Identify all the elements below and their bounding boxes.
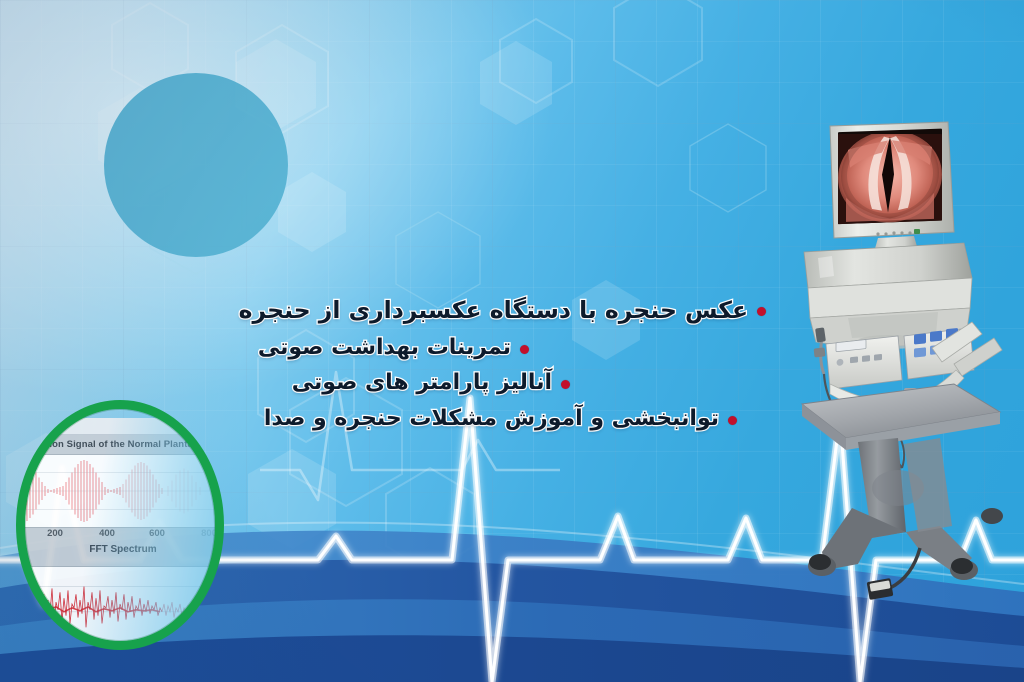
banner-root: عکس حنجره با دستگاه عکسبرداری از حنجره ت…: [0, 0, 1024, 682]
fft-trace: [20, 567, 220, 641]
chart-axis-top: 0 200 400 600 800 FFT Spectrum: [20, 528, 220, 566]
bullet-dot-icon: [520, 345, 529, 354]
chart-axis-bottom: 200 400 600 800: [20, 642, 220, 646]
feature-item-4-label: توانبخشی و آموزش مشکلات حنجره و صدا: [264, 406, 719, 433]
laryngeal-stroboscopy-tower: [786, 112, 1024, 612]
feature-item-2[interactable]: تمرینات بهداشت صوتی: [236, 335, 529, 362]
xtick-600: 600: [149, 528, 165, 539]
feature-item-4[interactable]: توانبخشی و آموزش مشکلات حنجره و صدا: [236, 406, 737, 433]
bullet-dot-icon: [757, 307, 766, 316]
feature-item-3[interactable]: آنالیز پارامتر های صوتی: [236, 370, 570, 397]
foot-pedal: [867, 548, 920, 600]
light-source-panel: [826, 336, 902, 389]
chart-panel-fft: [20, 566, 220, 642]
signal-analysis-magnifier: ion Signal of the Normal Plantar: [16, 400, 230, 662]
chart-panel-vibration: [20, 454, 220, 528]
chart-toolbar[interactable]: [20, 418, 220, 435]
xtick2-800: 800: [201, 642, 217, 646]
xtick-400: 400: [99, 528, 115, 539]
chart-window: ion Signal of the Normal Plantar: [20, 418, 220, 646]
bullet-dot-icon: [561, 380, 570, 389]
xtick2-600: 600: [149, 642, 165, 646]
chart-clip: ion Signal of the Normal Plantar: [20, 404, 220, 646]
toolbar-record-icon[interactable]: [205, 422, 213, 430]
xtick2-400: 400: [99, 642, 115, 646]
feature-item-3-label: آنالیز پارامتر های صوتی: [292, 370, 552, 397]
toolbar-zoom-icon[interactable]: [218, 422, 220, 430]
feature-item-1[interactable]: عکس حنجره با دستگاه عکسبرداری از حنجره: [236, 296, 766, 325]
chart-xticks-bottom: 200 400 600 800: [20, 642, 220, 646]
chart-title: ion Signal of the Normal Plantar: [20, 435, 220, 454]
feature-item-2-label: تمرینات بهداشت صوتی: [258, 335, 511, 362]
chart-xticks-top: 0 200 400 600 800: [20, 528, 220, 542]
monitor: [830, 122, 954, 252]
feature-item-1-label: عکس حنجره با دستگاه عکسبرداری از حنجره: [239, 296, 748, 325]
xtick-200: 200: [47, 528, 63, 539]
cart-base: [822, 438, 972, 574]
chart-axis-label-fft: FFT Spectrum: [20, 542, 220, 558]
xtick2-200: 200: [47, 642, 63, 646]
feature-list: عکس حنجره با دستگاه عکسبرداری از حنجره ت…: [236, 296, 766, 440]
xtick-800: 800: [201, 528, 217, 539]
bullet-dot-icon: [728, 416, 737, 425]
vibration-trace: [20, 455, 220, 527]
